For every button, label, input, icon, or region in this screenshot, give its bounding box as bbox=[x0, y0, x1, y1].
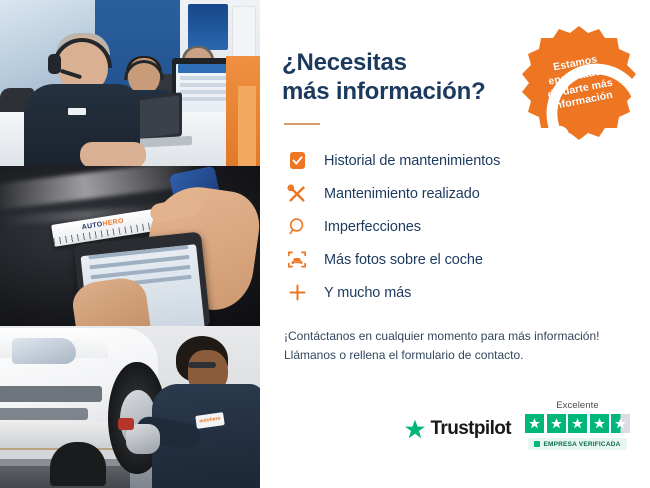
trustpilot-star-rating bbox=[525, 414, 630, 433]
contact-paragraph-line-1: ¡Contáctanos en cualquier momento para m… bbox=[284, 329, 600, 343]
arm bbox=[80, 142, 146, 166]
magnifier-icon bbox=[284, 214, 310, 240]
rear-tire bbox=[50, 442, 106, 486]
rating-star-1 bbox=[525, 414, 544, 433]
promo-card: AUTOHERO bbox=[0, 0, 650, 488]
rating-star-4 bbox=[590, 414, 609, 433]
contact-paragraph-line-2: Llámanos o rellena el formulario de cont… bbox=[284, 348, 523, 362]
plus-icon bbox=[284, 280, 310, 306]
contact-paragraph: ¡Contáctanos en cualquier momento para m… bbox=[284, 327, 628, 366]
car-grille bbox=[0, 386, 102, 402]
headset-earcup bbox=[48, 54, 61, 74]
page-title-line-2: más información? bbox=[282, 78, 486, 105]
feature-label: Mantenimiento realizado bbox=[324, 186, 480, 202]
feature-item-imperfecciones: Imperfecciones bbox=[284, 211, 628, 243]
title-underline-divider bbox=[284, 123, 320, 125]
rating-star-3 bbox=[568, 414, 587, 433]
feature-label: Y mucho más bbox=[324, 285, 411, 301]
photo-column: AUTOHERO bbox=[0, 0, 260, 488]
car-bumper bbox=[0, 422, 116, 448]
trustpilot-star-icon bbox=[404, 419, 426, 440]
checkbox-checked-icon bbox=[284, 148, 310, 174]
photo-autohero-ruler-inspection: AUTOHERO bbox=[0, 166, 260, 326]
feature-label: Imperfecciones bbox=[324, 219, 421, 235]
mechanic: autohero bbox=[144, 336, 260, 488]
page-title-line-1: ¿Necesitas bbox=[282, 49, 407, 76]
content-panel: Estamos encantados de darte más informac… bbox=[260, 0, 650, 488]
verified-label: EMPRESA VERIFICADA bbox=[543, 441, 620, 448]
headset-icon bbox=[527, 45, 650, 183]
orange-equipment-highlight bbox=[238, 86, 256, 166]
agent-foreground bbox=[24, 36, 140, 166]
photo-mechanic-wheel-inspection: autohero bbox=[0, 326, 260, 488]
feature-label: Más fotos sobre el coche bbox=[324, 252, 483, 268]
trustpilot-widget[interactable]: Trustpilot Excelente bbox=[404, 400, 630, 450]
trustpilot-rating-label: Excelente bbox=[556, 400, 599, 411]
car-headlight bbox=[12, 338, 76, 364]
photo-call-center-agents bbox=[0, 0, 260, 166]
verified-business-badge: EMPRESA VERIFICADA bbox=[528, 438, 626, 450]
safety-glasses bbox=[188, 362, 216, 368]
hand-tool bbox=[118, 418, 134, 430]
rating-star-5-half bbox=[611, 414, 630, 433]
feature-item-fotos: Más fotos sobre el coche bbox=[284, 244, 628, 276]
feature-label: Historial de mantenimientos bbox=[324, 153, 500, 169]
car-scan-frame-icon bbox=[284, 247, 310, 273]
car-lower-grille bbox=[0, 408, 88, 420]
trustpilot-brand-label: Trustpilot bbox=[430, 418, 511, 440]
promo-badge: Estamos encantados de darte más informac… bbox=[520, 24, 638, 142]
check-icon bbox=[534, 441, 540, 447]
name-badge bbox=[68, 108, 86, 115]
trustpilot-logo[interactable]: Trustpilot bbox=[404, 418, 511, 450]
tools-wrench-screwdriver-icon bbox=[284, 181, 310, 207]
wall-poster bbox=[188, 4, 228, 50]
rating-star-2 bbox=[547, 414, 566, 433]
feature-item-mucho-mas: Y mucho más bbox=[284, 277, 628, 309]
trustpilot-rating-block: Excelente bbox=[525, 400, 630, 450]
feature-item-mantenimiento: Mantenimiento realizado bbox=[284, 178, 628, 210]
